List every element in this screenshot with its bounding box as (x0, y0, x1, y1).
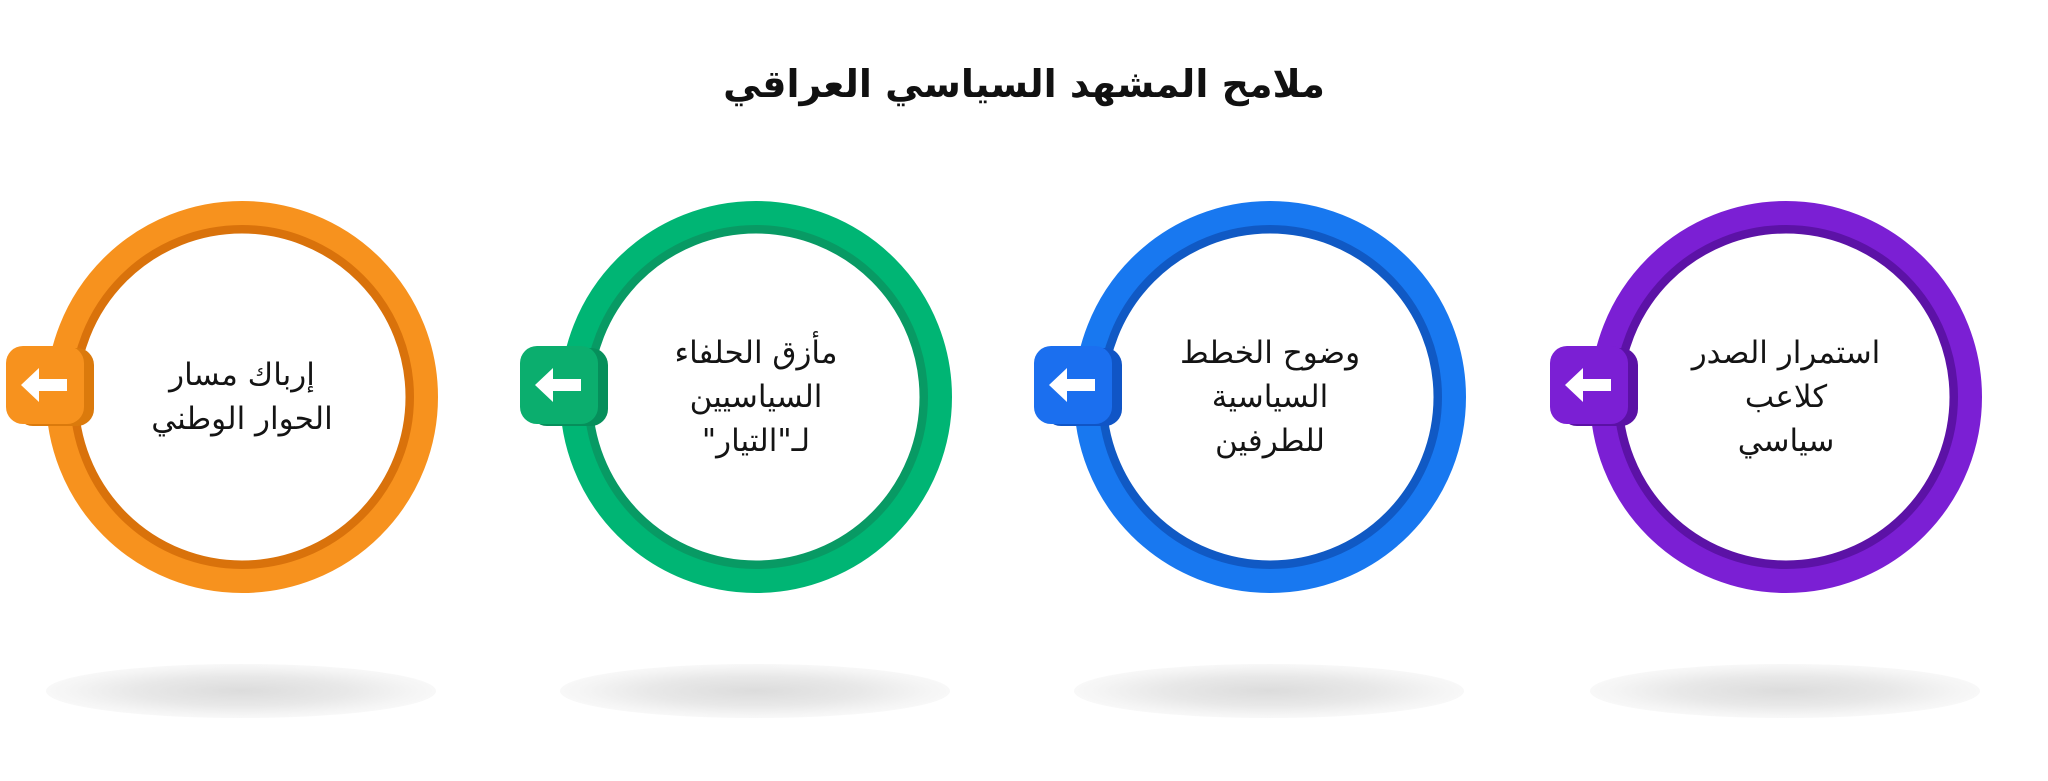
step-badge-1[interactable] (2, 342, 100, 432)
step-label-2: مأزق الحلفاء السياسيين لـ"التيار" (624, 331, 888, 463)
step-text-block-3: وضوح الخطط السياسية للطرفين (1069, 196, 1471, 598)
step-badge-4[interactable] (1546, 342, 1644, 432)
step-text-block-1: إرباك مسار الحوار الوطني (41, 196, 443, 598)
steps-row: إرباك مسار الحوار الوطني (0, 196, 2048, 676)
step-card-1[interactable]: إرباك مسار الحوار الوطني (18, 196, 466, 676)
step-badge-3[interactable] (1030, 342, 1128, 432)
step-card-3[interactable]: وضوح الخطط السياسية للطرفين (1046, 196, 1494, 676)
drop-shadow-ellipse (560, 664, 950, 718)
step-text-block-4: استمرار الصدر كلاعب سياسي (1585, 196, 1987, 598)
drop-shadow-ellipse (1590, 664, 1980, 718)
step-badge-2[interactable] (516, 342, 614, 432)
step-label-4: استمرار الصدر كلاعب سياسي (1654, 331, 1918, 463)
step-label-1: إرباك مسار الحوار الوطني (110, 353, 374, 441)
drop-shadow-ellipse (1074, 664, 1464, 718)
page-title: ملامح المشهد السياسي العراقي (0, 62, 2048, 108)
step-card-4[interactable]: استمرار الصدر كلاعب سياسي (1562, 196, 2010, 676)
step-text-block-2: مأزق الحلفاء السياسيين لـ"التيار" (555, 196, 957, 598)
step-label-3: وضوح الخطط السياسية للطرفين (1138, 331, 1402, 463)
drop-shadow-ellipse (46, 664, 436, 718)
step-card-2[interactable]: مأزق الحلفاء السياسيين لـ"التيار" (532, 196, 980, 676)
